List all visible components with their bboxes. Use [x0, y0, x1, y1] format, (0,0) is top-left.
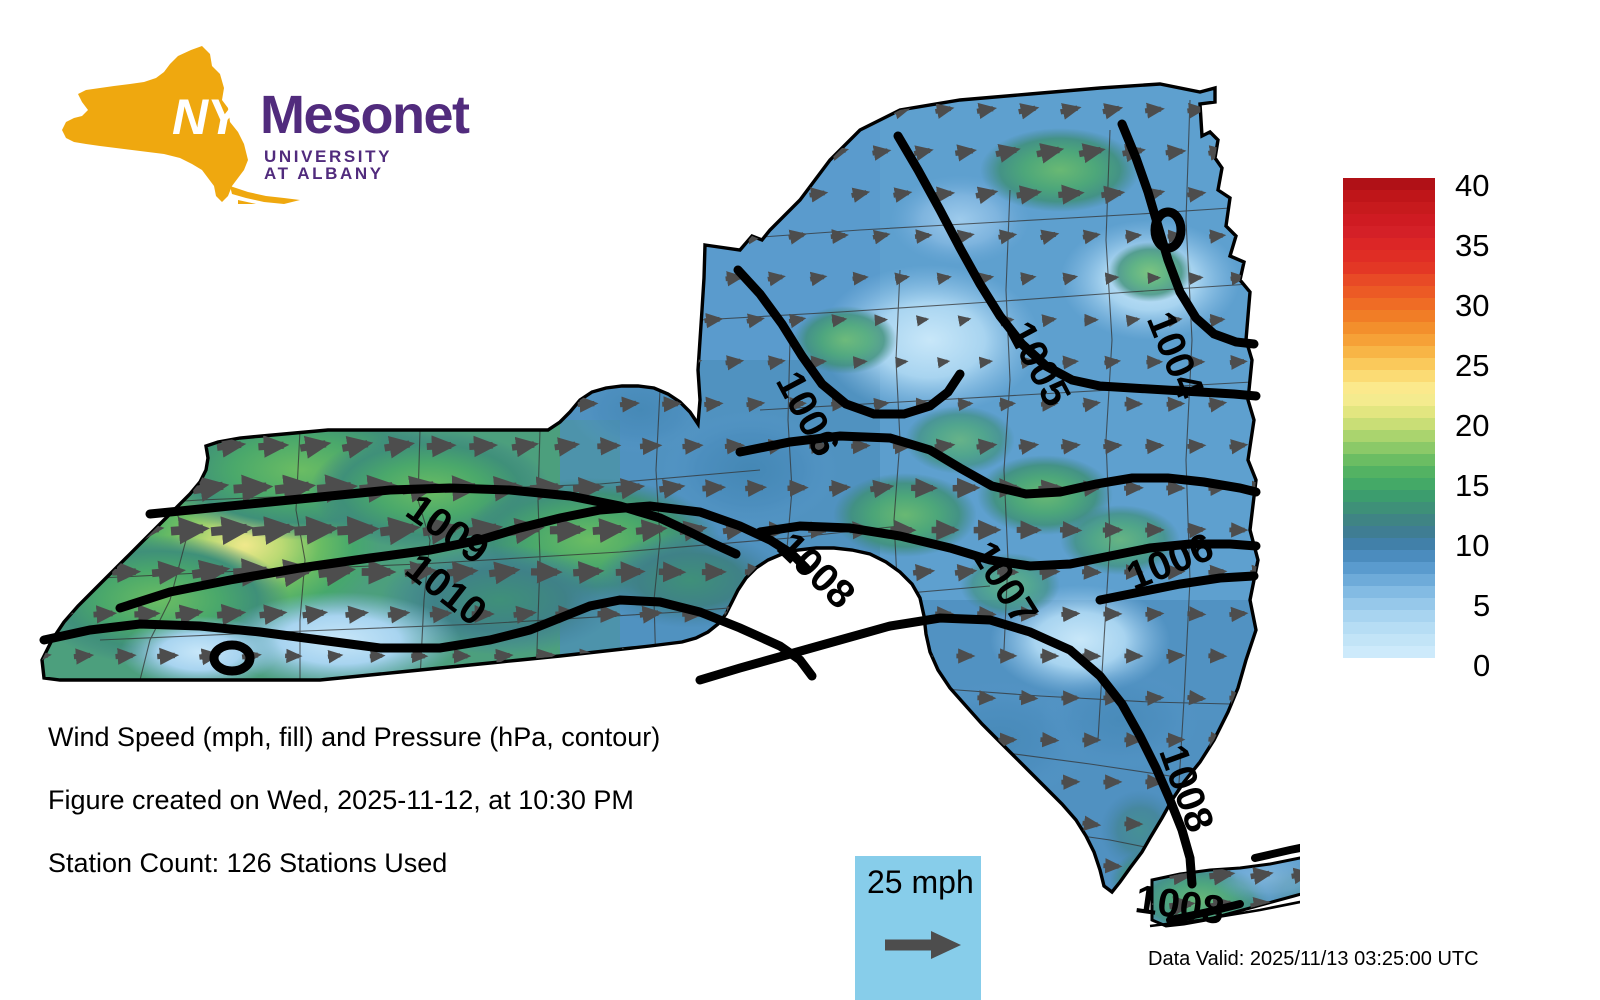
wind-vector [201, 318, 216, 321]
wind-vector [92, 529, 114, 531]
wind-vector [620, 403, 636, 404]
wind-legend-arrow-icon [883, 928, 963, 962]
wind-vector [558, 109, 573, 112]
wind-vector [1083, 235, 1097, 237]
wind-vector [663, 151, 678, 153]
wind-vector [620, 824, 635, 825]
wind-vector [515, 361, 530, 364]
wind-vector [193, 486, 223, 491]
wind-vector [474, 109, 489, 112]
colorbar-band [1343, 490, 1435, 502]
wind-vector [705, 907, 720, 909]
wind-vector [474, 698, 489, 699]
wind-vector [789, 235, 804, 238]
wind-vector [810, 109, 825, 111]
wind-vector [116, 655, 133, 656]
wind-vector [328, 655, 340, 656]
wind-vector [1187, 109, 1202, 111]
colorbar-tick-10: 10 [1455, 530, 1489, 561]
wind-vector [1063, 277, 1075, 279]
wind-vector [578, 404, 595, 405]
wind-vector [1058, 193, 1079, 195]
wind-vector [473, 361, 489, 364]
wind-vector [1229, 782, 1244, 783]
wind-vector [705, 319, 720, 321]
wind-vector [1082, 572, 1098, 573]
wind-vector [829, 487, 847, 488]
wind-vector [327, 235, 342, 238]
wind-vector [768, 361, 782, 363]
wind-vector [137, 361, 152, 364]
wind-vector [432, 193, 447, 196]
wind-vector [1019, 445, 1035, 447]
wind-vector [494, 655, 509, 656]
wind-vector [851, 446, 867, 447]
wind-vector [452, 824, 467, 825]
wind-vector [999, 823, 1014, 825]
colorbar-band [1343, 238, 1435, 250]
wind-vector [1145, 866, 1160, 867]
wind-legend-label: 25 mph [867, 864, 974, 901]
wind-vector [998, 740, 1013, 741]
wind-vector [558, 193, 573, 196]
wind-vector [152, 571, 180, 574]
wind-vector [767, 782, 782, 783]
wind-vector [1190, 278, 1201, 279]
wind-vector [264, 277, 279, 280]
wind-vector [555, 445, 576, 448]
wind-vector [171, 529, 203, 531]
wind-vector [875, 320, 885, 321]
wind-vector [1209, 874, 1230, 877]
wind-vector [52, 530, 71, 531]
wind-vector [201, 150, 216, 154]
wind-vector [54, 192, 69, 196]
wind-vector [234, 487, 267, 489]
wind-vector [597, 446, 616, 447]
wind-vector [1061, 614, 1076, 615]
colorbar-band [1343, 334, 1435, 346]
wind-vector [300, 444, 325, 448]
wind-vector [367, 403, 386, 406]
wind-vector [74, 403, 90, 406]
wind-vector [1271, 698, 1286, 699]
wind-vector [831, 907, 846, 909]
colorbar-band [1343, 214, 1435, 226]
wind-vector [620, 656, 636, 657]
wind-vector [319, 570, 350, 574]
wind-vector [327, 150, 342, 153]
wind-vector [788, 740, 803, 741]
wind-vector [939, 361, 948, 362]
wind-vector [1145, 446, 1160, 447]
wind-vector [327, 318, 342, 322]
wind-vector [1019, 866, 1034, 867]
wind-vector [557, 698, 572, 699]
wind-vector [621, 234, 636, 238]
wind-vector [493, 404, 511, 405]
wind-vector [75, 235, 90, 238]
wind-vector [242, 908, 257, 909]
wind-vector [317, 487, 351, 490]
wind-vector [222, 276, 237, 279]
wind-vector [579, 150, 594, 154]
wind-vector [495, 318, 510, 321]
wind-vector [704, 404, 719, 405]
wind-vector [642, 192, 657, 196]
wind-vector [116, 824, 131, 825]
wind-vector [704, 740, 719, 741]
wind-vector [557, 361, 572, 362]
wind-vector [348, 277, 363, 279]
wind-vector [726, 865, 741, 866]
colorbar-band [1343, 514, 1435, 526]
wind-vector [620, 908, 635, 909]
wind-vector [52, 613, 69, 614]
colorbar-band [1343, 442, 1435, 454]
wind-vector [94, 613, 113, 614]
wind-vector [977, 614, 993, 615]
wind-vector [980, 361, 990, 362]
wind-vector [1187, 446, 1202, 447]
wind-vector [368, 823, 383, 824]
wind-vector [1101, 193, 1120, 196]
wind-vector [573, 487, 599, 489]
wind-vector [1103, 866, 1118, 867]
wind-vector [72, 487, 91, 488]
wind-vector [138, 108, 153, 111]
wind-vector [117, 234, 132, 238]
wind-vector [851, 697, 866, 698]
wind-vector [1106, 277, 1117, 278]
wind-vector [516, 865, 531, 866]
colorbar-band [1343, 274, 1435, 286]
wind-vector [684, 193, 699, 196]
wind-vector [659, 487, 680, 490]
wind-vector [192, 570, 223, 575]
wind-vector [914, 150, 930, 153]
wind-vector [913, 571, 931, 573]
wind-vector [1250, 655, 1265, 656]
wind-vector [347, 782, 362, 783]
colorbar-tick-25: 25 [1455, 350, 1489, 381]
wind-vector [453, 235, 468, 238]
wind-vector [1272, 361, 1287, 362]
colorbar-tick-5: 5 [1473, 590, 1490, 621]
wind-vector [176, 445, 198, 446]
wind-vector [217, 613, 241, 615]
colorbar-band [1343, 634, 1435, 646]
wind-vector [550, 530, 580, 531]
wind-vector [747, 403, 762, 405]
colorbar-tick-30: 30 [1455, 290, 1489, 321]
wind-vector [578, 655, 594, 656]
wind-vector [663, 319, 678, 321]
wind-vector [348, 698, 362, 699]
wind-vector [621, 319, 636, 321]
wind-vector [1292, 874, 1300, 877]
wind-vector [516, 277, 531, 279]
wind-vector [31, 571, 49, 572]
wind-vector [1272, 781, 1287, 783]
wind-vector [258, 445, 283, 447]
wind-vector [1208, 572, 1223, 573]
wind-vector [830, 655, 845, 656]
wind-vector [684, 865, 699, 867]
wind-vector [201, 235, 216, 237]
wind-vector [767, 614, 783, 615]
wind-vector [368, 908, 383, 909]
wind-vector [263, 781, 278, 782]
wind-vector [305, 782, 320, 783]
wind-vector [636, 529, 662, 532]
wind-vector [1272, 109, 1287, 112]
wind-vector [138, 276, 153, 279]
wind-vector [135, 445, 155, 447]
data-valid-timestamp: Data Valid: 2025/11/13 03:25:00 UTC [1148, 948, 1479, 971]
wind-vector [390, 109, 405, 112]
wind-vector [72, 571, 92, 573]
wind-vector [642, 109, 657, 112]
wind-vector [158, 403, 175, 406]
wind-vector [516, 193, 531, 195]
wind-vector [959, 319, 968, 321]
wind-vector [1210, 319, 1222, 320]
wind-vector [285, 234, 300, 238]
wind-vector [33, 151, 48, 154]
wind-vector [427, 445, 451, 446]
wind-vector [74, 824, 89, 825]
wind-vector [937, 277, 948, 279]
wind-vector [1187, 193, 1202, 195]
wind-vector [683, 445, 700, 446]
colorbar-band [1343, 322, 1435, 334]
wind-vector [702, 487, 721, 488]
wind-vector [337, 529, 372, 531]
wind-vector [642, 865, 657, 867]
wind-vector [389, 781, 404, 782]
colorbar-band [1343, 526, 1435, 538]
wind-vector [1042, 319, 1054, 321]
wind-vector [260, 613, 283, 615]
wind-vector [1251, 236, 1265, 237]
wind-vector [283, 403, 302, 404]
wind-vector [579, 235, 594, 237]
wind-vector [1103, 445, 1118, 446]
wind-vector [180, 109, 195, 112]
wind-vector [1145, 614, 1160, 615]
wind-vector [33, 319, 48, 321]
colorbar-band [1343, 358, 1435, 370]
wind-vector [325, 402, 344, 406]
wind-vector [810, 277, 824, 279]
wind-vector [179, 698, 195, 699]
wind-vector [918, 319, 927, 320]
wind-vector [275, 486, 309, 490]
wind-vector [1272, 193, 1287, 195]
wind-vector [788, 488, 805, 489]
wind-vector [347, 361, 363, 363]
wind-vector [831, 235, 845, 236]
wind-vector [662, 404, 678, 405]
wind-vector [157, 655, 175, 656]
wind-vector [600, 193, 615, 195]
wind-vector [705, 151, 720, 154]
wind-vector [180, 276, 195, 280]
wind-vector [326, 824, 341, 825]
wind-vector [745, 487, 763, 488]
wind-vector [263, 361, 279, 363]
colorbar-tick-40: 40 [1455, 170, 1489, 201]
wind-vector [1251, 823, 1266, 825]
colorbar[interactable] [1343, 178, 1435, 658]
wind-vector [96, 108, 111, 112]
wind-vector [96, 277, 111, 279]
wind-vector [726, 277, 741, 279]
colorbar-band [1343, 394, 1435, 406]
wind-vector [1230, 193, 1245, 195]
colorbar-tick-20: 20 [1455, 410, 1489, 441]
wind-vector [389, 361, 405, 363]
wind-vector [222, 108, 237, 111]
wind-vector [369, 151, 384, 154]
colorbar-band [1343, 382, 1435, 394]
colorbar-band [1343, 190, 1435, 202]
wind-vector [474, 277, 489, 279]
wind-vector [1040, 740, 1055, 741]
wind-vector [117, 319, 132, 322]
wind-vector [1145, 698, 1160, 699]
wind-vector [1062, 865, 1077, 867]
wind-vector [935, 782, 950, 783]
wind-vector [54, 360, 69, 363]
wind-vector [411, 235, 426, 237]
wind-vector [409, 403, 427, 406]
wind-vector [726, 193, 741, 196]
colorbar-band [1343, 454, 1435, 466]
wind-vector [243, 150, 258, 153]
colorbar-band [1343, 262, 1435, 274]
wind-vector [453, 150, 468, 153]
wind-vector [768, 109, 783, 111]
wind-vector [241, 403, 259, 404]
wind-vector [54, 108, 69, 112]
wind-vector [474, 193, 489, 196]
wind-vector [451, 402, 469, 405]
wind-vector [1083, 403, 1097, 405]
wind-vector [512, 444, 534, 447]
wind-vector [684, 277, 699, 280]
wind-vector [811, 361, 824, 362]
wind-vector [306, 698, 321, 699]
wind-vector [976, 192, 994, 196]
wind-vector [557, 865, 572, 866]
wind-vector [789, 319, 803, 321]
wind-vector [113, 486, 135, 490]
wind-vector [809, 613, 825, 615]
wind-vector [852, 109, 867, 111]
wind-vector [536, 403, 553, 406]
caption-title: Wind Speed (mph, fill) and Pressure (hPa… [48, 722, 660, 753]
wind-vector [593, 529, 621, 531]
wind-vector [579, 318, 594, 321]
colorbar-band [1343, 202, 1435, 214]
wind-vector [894, 193, 909, 196]
wind-vector [158, 824, 173, 825]
wind-vector [53, 445, 69, 448]
wind-vector [452, 908, 467, 909]
colorbar-band [1343, 226, 1435, 238]
wind-vector [1187, 697, 1202, 698]
wind-vector [117, 150, 132, 154]
wind-vector [662, 824, 677, 825]
wind-vector [914, 824, 929, 825]
wind-vector [768, 193, 783, 196]
wind-vector [1079, 150, 1101, 154]
wind-vector [385, 444, 410, 448]
wind-vector [537, 318, 552, 321]
wind-vector [159, 235, 174, 237]
wind-vector [725, 698, 740, 699]
wind-vector [159, 319, 174, 322]
colorbar-band [1343, 466, 1435, 478]
wind-vector [342, 444, 367, 449]
wind-vector [390, 193, 405, 195]
wind-vector [1209, 235, 1222, 236]
wind-vector [112, 572, 136, 573]
wind-vector [432, 277, 447, 280]
wind-vector [536, 824, 551, 825]
wind-vector [489, 570, 515, 573]
wind-vector [495, 907, 510, 908]
wind-vector [1271, 530, 1286, 531]
wind-vector [870, 487, 889, 490]
colorbar-band [1343, 370, 1435, 382]
wind-vector [642, 277, 657, 279]
colorbar-band [1343, 538, 1435, 550]
wind-vector [1021, 277, 1033, 279]
wind-vector [1272, 445, 1287, 446]
wind-vector [789, 823, 804, 824]
wind-vector [726, 361, 741, 363]
wind-vector [1019, 698, 1034, 699]
wind-vector [431, 361, 447, 363]
wind-vector [176, 612, 199, 615]
colorbar-tick-35: 35 [1455, 230, 1489, 261]
colorbar-band [1343, 406, 1435, 418]
colorbar-band [1343, 346, 1435, 358]
wind-vector [1166, 740, 1181, 741]
wind-vector [640, 446, 658, 447]
wind-vector [32, 403, 47, 404]
wind-vector [768, 277, 782, 279]
wind-vector [1083, 823, 1098, 825]
wind-vector [285, 151, 300, 153]
wind-vector [75, 150, 90, 154]
wind-vector [999, 404, 1012, 405]
wind-vector [537, 151, 552, 153]
colorbar-band [1343, 562, 1435, 574]
caption-station-count: Station Count: 126 Stations Used [48, 848, 447, 879]
wind-vector [958, 404, 970, 405]
wind-vector [935, 109, 950, 112]
wind-vector [32, 487, 49, 489]
wind-vector [222, 192, 237, 196]
colorbar-band [1343, 622, 1435, 634]
wind-vector [32, 655, 48, 657]
wind-vector [348, 109, 363, 112]
wind-vector [1061, 108, 1078, 112]
